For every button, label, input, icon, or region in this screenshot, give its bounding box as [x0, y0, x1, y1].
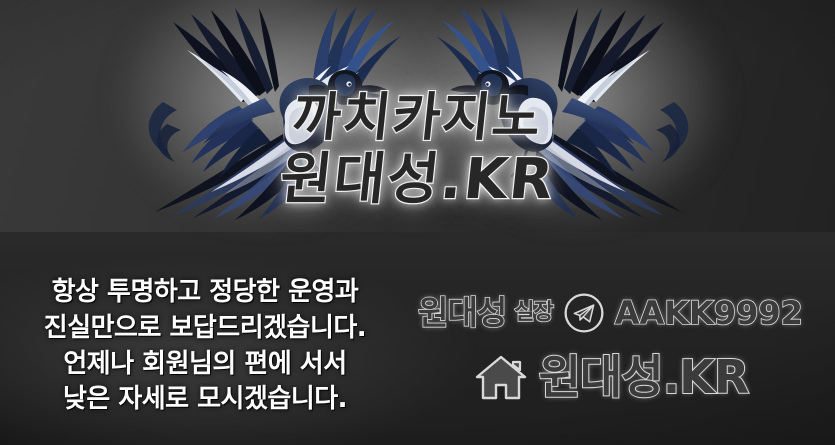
slogan-line-1: 항상 투명하고 정당한 운영과 [16, 275, 394, 311]
magpie-bird-icon-left [133, 6, 403, 221]
telegram-handle[interactable]: AAKK9992 [615, 297, 803, 329]
slogan-line-2: 진실만으로 보답드리겠습니다. [16, 311, 394, 347]
website-row[interactable]: 원대성.KR [394, 352, 827, 402]
slogan-line-3: 언제나 회원님의 편에 서서 [16, 347, 394, 383]
magpie-bird-icon-right [434, 6, 704, 221]
telegram-contact-row[interactable]: 원대성 실장 AAKK9992 [394, 292, 827, 334]
slogan-block: 항상 투명하고 정당한 운영과 진실만으로 보답드리겠습니다. 언제나 회원님의… [0, 275, 394, 419]
slogan-line-4: 낮은 자세로 모시겠습니다. [16, 382, 394, 418]
casino-promo-banner: 까치카지노 원대성.KR 항상 투명하고 정당한 운영과 진실만으로 보답드리겠… [0, 0, 835, 445]
home-icon [473, 352, 529, 402]
site-name[interactable]: 원대성.KR [539, 354, 749, 400]
manager-name: 원대성 [418, 296, 506, 329]
contact-block: 원대성 실장 AAKK9992 [394, 292, 835, 402]
manager-title: 실장 [514, 302, 552, 324]
telegram-icon[interactable] [563, 292, 605, 334]
lower-section: 항상 투명하고 정당한 운영과 진실만으로 보답드리겠습니다. 언제나 회원님의… [0, 248, 835, 445]
